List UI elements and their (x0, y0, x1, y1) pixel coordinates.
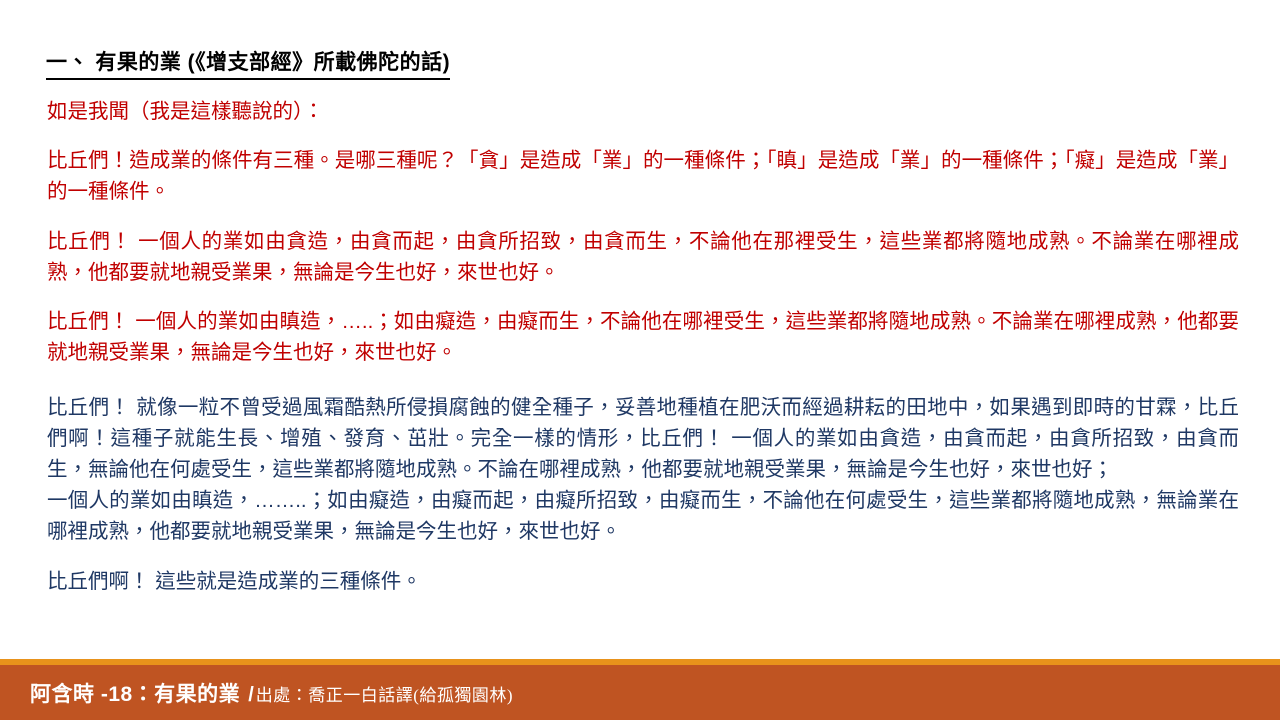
slide-body: 如是我聞（我是這樣聽說的）： 比丘們！造成業的條件有三種。是哪三種呢？「貪」是造… (47, 96, 1239, 597)
paragraph-intro: 如是我聞（我是這樣聽說的）： (47, 96, 1239, 127)
paragraph-three-conditions: 比丘們！造成業的條件有三種。是哪三種呢？「貪」是造成「業」的一種條件；「瞋」是造… (47, 145, 1239, 207)
paragraph-conclusion: 比丘們啊！ 這些就是造成業的三種條件。 (47, 566, 1239, 597)
paragraph-greed-karma: 比丘們！ 一個人的業如由貪造，由貪而起，由貪所招致，由貪而生，不論他在那裡受生，… (47, 226, 1239, 288)
page-title: 一、 有果的業 (《增支部經》所載佛陀的話) (46, 50, 450, 80)
paragraph-hate-delusion-karma: 比丘們！ 一個人的業如由瞋造，…..；如由癡造，由癡而生，不論他在哪裡受生，這些… (47, 306, 1239, 368)
footer-title: 阿含時 -18：有果的業 (30, 683, 240, 706)
footer-separator: / (240, 684, 256, 706)
footer-source: 出處：喬正一白話譯(給孤獨園林) (256, 686, 513, 705)
footer-caption: 阿含時 -18：有果的業/出處：喬正一白話譯(給孤獨園林) (30, 678, 513, 708)
slide-canvas: 一、 有果的業 (《增支部經》所載佛陀的話) 如是我聞（我是這樣聽說的）： 比丘… (0, 0, 1280, 720)
footer-accent-stripe (0, 659, 1280, 665)
paragraph-seed-simile-continued: 一個人的業如由瞋造，……..；如由癡造，由癡而起，由癡所招致，由癡而生，不論他在… (47, 485, 1239, 547)
footer-bar: 阿含時 -18：有果的業/出處：喬正一白話譯(給孤獨園林) (0, 665, 1280, 720)
paragraph-seed-simile: 比丘們！ 就像一粒不曾受過風霜酷熱所侵損腐蝕的健全種子，妥善地種植在肥沃而經過耕… (47, 392, 1239, 485)
